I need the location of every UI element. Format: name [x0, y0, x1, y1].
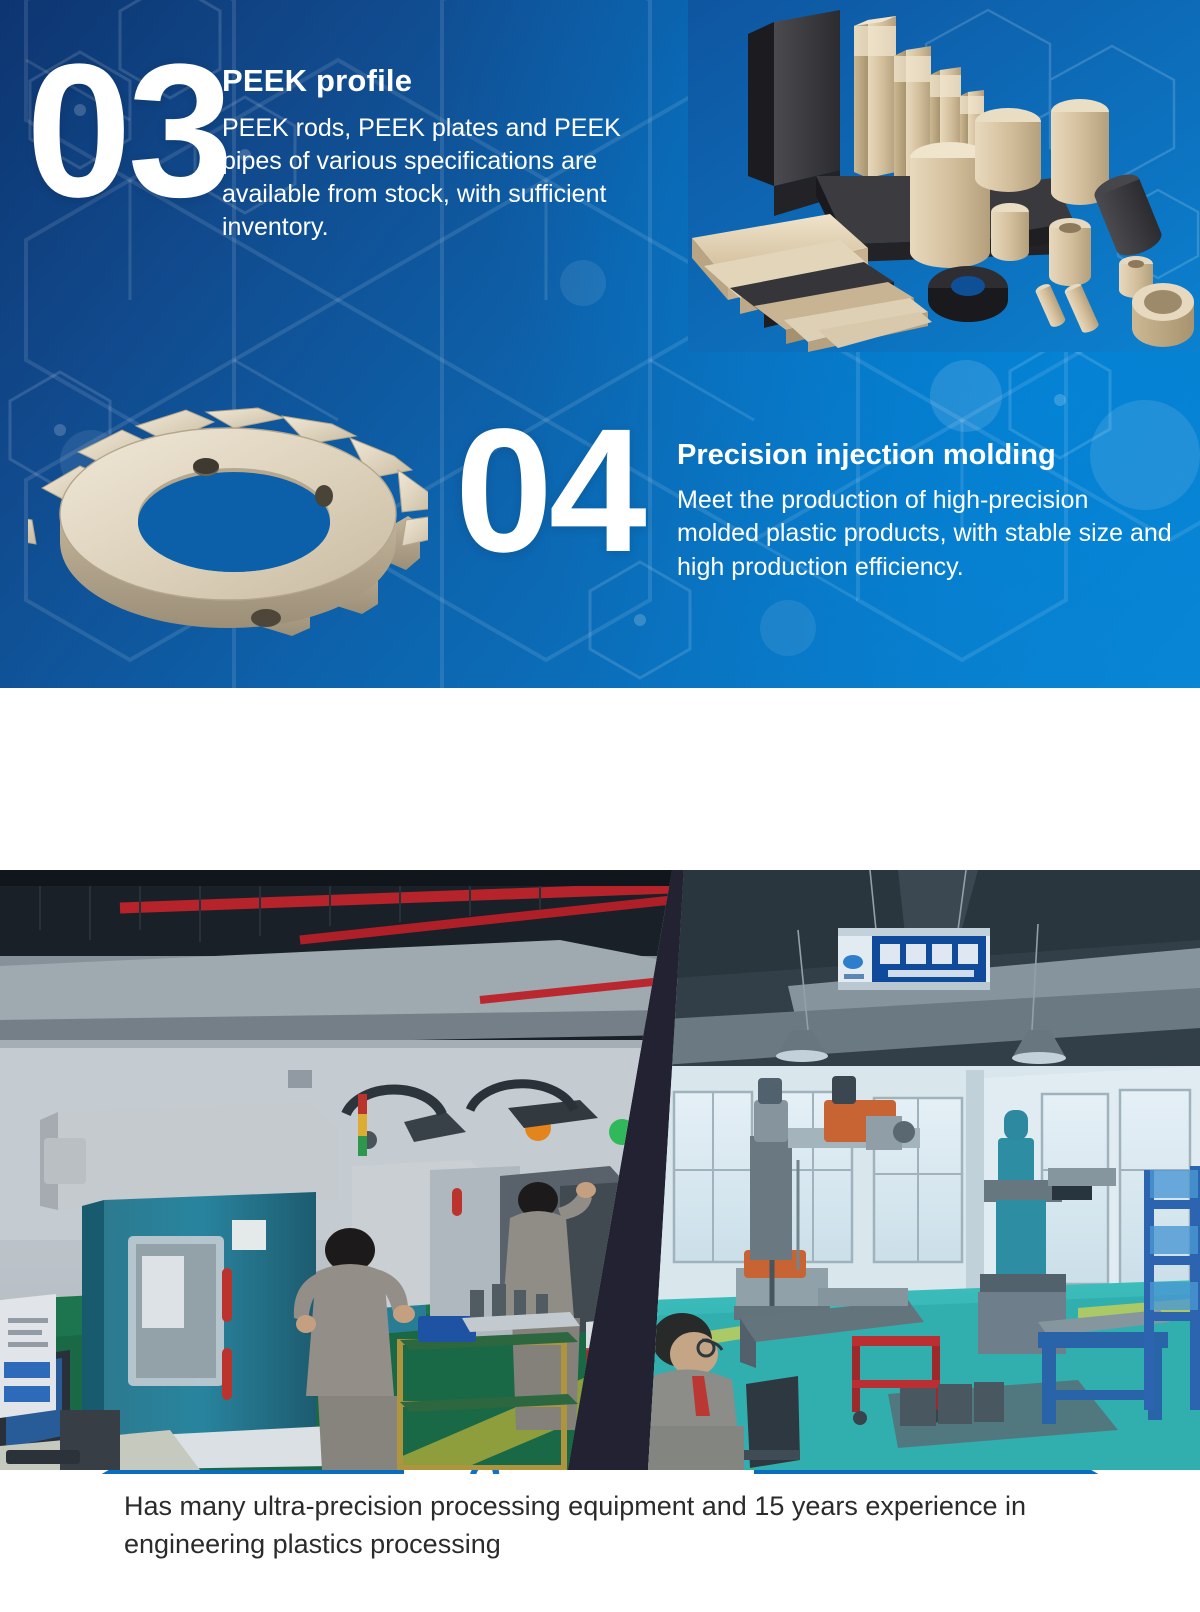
hero-item-title-03: PEEK profile: [222, 64, 670, 98]
hero-item-title-04: Precision injection molding: [677, 440, 1177, 472]
photo-cnc-machining-workshop: [0, 870, 672, 1470]
caption-section: Has many ultra-precision processing equi…: [0, 1474, 1200, 1612]
poster-page: PEEK rods, plates, pipes and tubes in be…: [0, 0, 1200, 1612]
factory-photos: [0, 870, 1200, 1470]
hero-item-body-03: PEEK rods, PEEK plates and PEEK pipes of…: [222, 112, 670, 244]
peek-profile-product-image: [688, 0, 1200, 352]
hero-item-body-04: Meet the production of high-precision mo…: [677, 484, 1177, 585]
hero-item-04: 04 Precision injection molding Meet the …: [455, 418, 1185, 658]
photo-mold-workshop: [648, 870, 1200, 1470]
caption-text: Has many ultra-precision processing equi…: [124, 1488, 1082, 1564]
hero-section: PEEK rods, plates, pipes and tubes in be…: [0, 0, 1200, 688]
hero-item-number-04: 04: [455, 418, 643, 566]
peek-gear-ring-image: [28, 372, 428, 662]
hero-item-number-03: 03: [26, 52, 229, 212]
our-strengths-banner: Our strengths: [0, 688, 1200, 870]
hero-item-03: 03 PEEK profile PEEK rods, PEEK plates a…: [26, 52, 666, 322]
